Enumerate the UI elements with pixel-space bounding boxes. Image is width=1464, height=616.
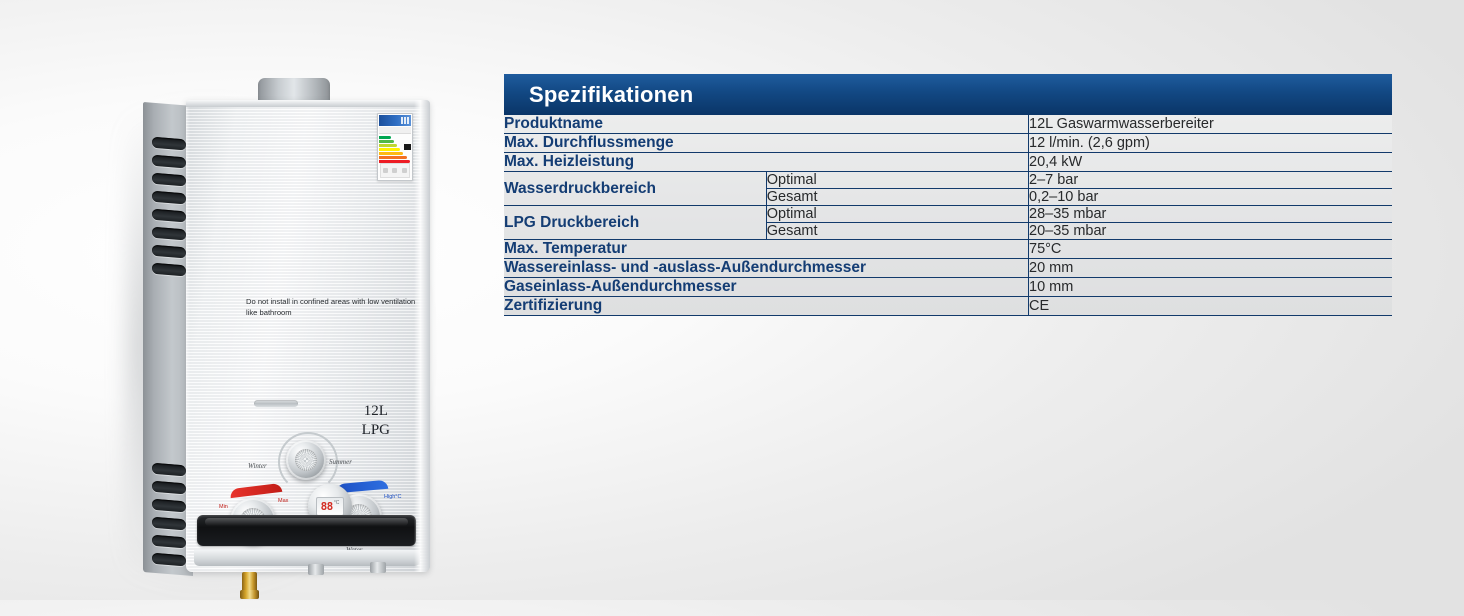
- product-image: Do not install in confined areas with lo…: [40, 16, 510, 616]
- installation-warning-text: Do not install in confined areas with lo…: [246, 296, 416, 318]
- gas-inlet-nut: [240, 590, 259, 599]
- energy-label-subheader: [379, 127, 411, 134]
- vent-group-bottom: [152, 463, 186, 567]
- spec-label: Wasserdruckbereich: [504, 172, 766, 206]
- vent-slot: [152, 227, 186, 241]
- vent-slot: [152, 481, 186, 495]
- vent-slot: [152, 137, 186, 151]
- gas-min-label: Min: [219, 504, 228, 510]
- spec-value: 0,2–10 bar: [1029, 189, 1393, 206]
- energy-label-footer: [380, 163, 410, 178]
- spec-value: 12 l/min. (2,6 gpm): [1029, 134, 1393, 153]
- temperature-value: 88: [321, 500, 333, 513]
- table-row: Gaseinlass-Außendurchmesser 10 mm: [504, 278, 1392, 297]
- model-fuel-label: LPG: [362, 421, 390, 440]
- water-connection-fitting: [308, 564, 324, 575]
- energy-bar-e: [379, 152, 403, 155]
- vent-slot: [152, 173, 186, 187]
- table-row: Max. Temperatur 75°C: [504, 240, 1392, 259]
- energy-bar-b: [379, 140, 394, 143]
- spec-label: Wassereinlass- und -auslass-Außendurchme…: [504, 259, 1029, 278]
- energy-bar-a: [379, 136, 391, 139]
- spec-sublabel: Optimal: [766, 206, 1028, 223]
- table-row: Produktname 12L Gaswarmwasserbereiter: [504, 115, 1392, 134]
- vent-slot: [152, 245, 186, 259]
- specifications-header: Spezifikationen: [504, 74, 1392, 115]
- table-row: Wasserdruckbereich Optimal 2–7 bar: [504, 172, 1392, 189]
- temperature-unit: °C: [334, 500, 340, 506]
- spec-label: Max. Heizleistung: [504, 153, 1029, 172]
- vent-slot: [152, 191, 186, 205]
- model-badge: 12L LPG: [362, 402, 390, 440]
- gas-max-label: Max: [278, 498, 288, 504]
- mode-summer-label: Summer: [329, 458, 352, 466]
- spec-value: 12L Gaswarmwasserbereiter: [1029, 115, 1393, 134]
- vent-slot: [152, 499, 186, 513]
- vent-slot: [152, 209, 186, 223]
- table-row: LPG Druckbereich Optimal 28–35 mbar: [504, 206, 1392, 223]
- mode-selector-knob[interactable]: [286, 440, 326, 480]
- spec-value: 28–35 mbar: [1029, 206, 1393, 223]
- unit-top-edge: [186, 100, 430, 107]
- water-outlet-fitting: [370, 562, 386, 573]
- spec-sublabel: Gesamt: [766, 223, 1028, 240]
- energy-bar-c: [379, 144, 397, 147]
- specifications-table: Produktname 12L Gaswarmwasserbereiter Ma…: [504, 115, 1392, 316]
- energy-label-header: [379, 115, 411, 126]
- spec-value: 20–35 mbar: [1029, 223, 1393, 240]
- table-row: Zertifizierung CE: [504, 297, 1392, 316]
- spec-label: Max. Durchflussmenge: [504, 134, 1029, 153]
- energy-label-sticker: [377, 113, 413, 181]
- unit-front-panel: Do not install in confined areas with lo…: [186, 100, 430, 572]
- mode-winter-label: Winter: [248, 462, 267, 470]
- spec-sublabel: Optimal: [766, 172, 1028, 189]
- spec-label: Produktname: [504, 115, 1029, 134]
- energy-bar-f: [379, 156, 407, 159]
- band-gloss: [205, 518, 408, 526]
- spec-value: 75°C: [1029, 240, 1393, 259]
- temperature-screen: 88 °C: [316, 497, 344, 516]
- table-row: Max. Heizleistung 20,4 kW: [504, 153, 1392, 172]
- vent-slot: [152, 263, 186, 277]
- spec-value: 20 mm: [1029, 259, 1393, 278]
- model-capacity-label: 12L: [362, 402, 390, 421]
- spec-value: 2–7 bar: [1029, 172, 1393, 189]
- energy-label-bars: [379, 136, 411, 163]
- indicator-light-strip: [254, 400, 298, 407]
- vent-slot: [152, 535, 186, 549]
- product-spec-page: Do not install in confined areas with lo…: [0, 0, 1464, 600]
- unit-base-edge: [194, 550, 420, 566]
- spec-label: LPG Druckbereich: [504, 206, 766, 240]
- table-row: Wassereinlass- und -auslass-Außendurchme…: [504, 259, 1392, 278]
- energy-class-marker: [404, 144, 411, 150]
- specifications-panel: Spezifikationen Produktname 12L Gaswarmw…: [504, 74, 1392, 316]
- vent-slot: [152, 155, 186, 169]
- specifications-title: Spezifikationen: [529, 82, 693, 108]
- spec-value: CE: [1029, 297, 1393, 316]
- spec-label: Max. Temperatur: [504, 240, 1029, 259]
- spec-label: Gaseinlass-Außendurchmesser: [504, 278, 1029, 297]
- water-high-label: High°C: [384, 494, 401, 500]
- table-row: Max. Durchflussmenge 12 l/min. (2,6 gpm): [504, 134, 1392, 153]
- vent-slot: [152, 553, 186, 567]
- front-bottom-band: [197, 515, 416, 546]
- spec-value: 20,4 kW: [1029, 153, 1393, 172]
- vent-slot: [152, 463, 186, 477]
- spec-label: Zertifizierung: [504, 297, 1029, 316]
- energy-bar-d: [379, 148, 400, 151]
- spec-value: 10 mm: [1029, 278, 1393, 297]
- gas-knob-arc: [230, 483, 283, 498]
- vent-slot: [152, 517, 186, 531]
- spec-sublabel: Gesamt: [766, 189, 1028, 206]
- vent-group-top: [152, 137, 186, 277]
